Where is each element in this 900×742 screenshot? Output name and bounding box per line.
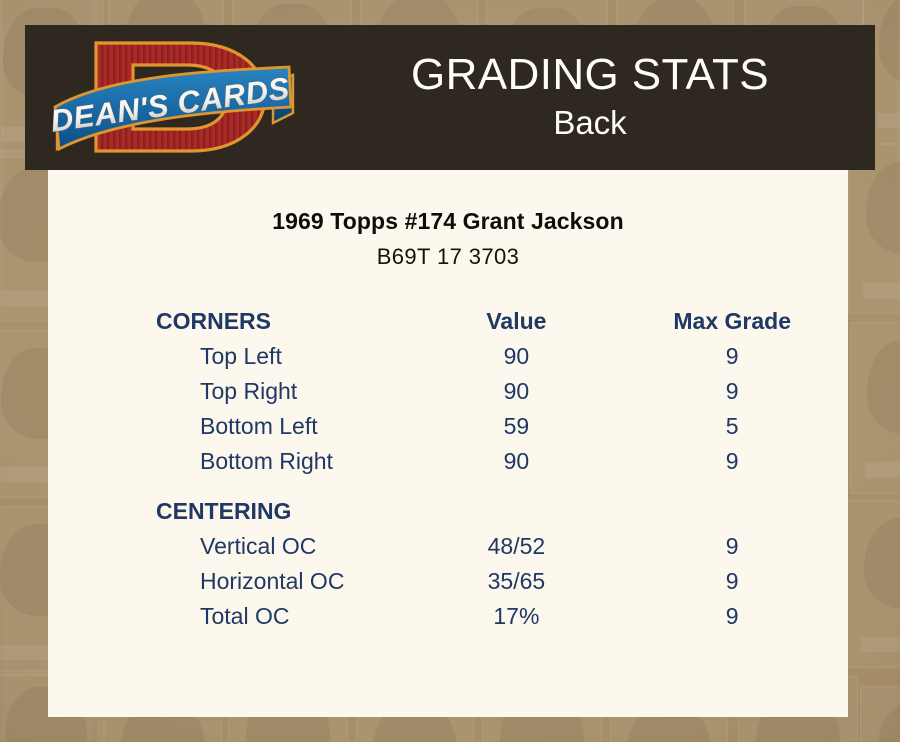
row-label: Bottom Left [48,409,416,444]
card-id: B69T 17 3703 [48,244,848,270]
table-row: Top Left 90 9 [48,339,848,374]
table-row: Vertical OC 48/52 9 [48,529,848,564]
header-bar: DEAN'S CARDS GRADING STATS Back [25,25,875,170]
row-max-grade: 9 [616,529,848,564]
row-value: 90 [416,374,616,409]
table-row: Horizontal OC 35/65 9 [48,564,848,599]
row-max-grade: 9 [616,374,848,409]
column-header-value: Value [416,304,616,339]
column-header-max-grade: Max Grade [616,304,848,339]
page-subtitle: Back [553,103,626,143]
grading-stats-table: CORNERS Value Max Grade Top Left 90 9 To… [48,304,848,634]
row-max-grade: 9 [616,339,848,374]
section-label-corners: CORNERS [48,304,416,339]
section-spacer-cell [616,494,848,529]
section-spacer-cell [416,494,616,529]
table-row: Total OC 17% 9 [48,599,848,634]
table-row: Top Right 90 9 [48,374,848,409]
content-panel: 1969 Topps #174 Grant Jackson B69T 17 37… [48,170,848,717]
table-row: Bottom Right 90 9 [48,444,848,479]
page-title: GRADING STATS [411,49,769,101]
table-section-header-corners: CORNERS Value Max Grade [48,304,848,339]
card-title: 1969 Topps #174 Grant Jackson [48,208,848,235]
row-label: Top Left [48,339,416,374]
row-max-grade: 9 [616,564,848,599]
table-section-header-centering: CENTERING [48,494,848,529]
row-value: 17% [416,599,616,634]
table-row: Bottom Left 59 5 [48,409,848,444]
row-value: 90 [416,444,616,479]
deans-cards-logo[interactable]: DEAN'S CARDS [41,27,301,167]
row-label: Horizontal OC [48,564,416,599]
row-label: Total OC [48,599,416,634]
row-value: 35/65 [416,564,616,599]
row-value: 90 [416,339,616,374]
row-max-grade: 5 [616,409,848,444]
header-titles: GRADING STATS Back [305,25,875,170]
row-value: 48/52 [416,529,616,564]
row-label: Vertical OC [48,529,416,564]
row-max-grade: 9 [616,444,848,479]
section-label-centering: CENTERING [48,494,416,529]
row-label: Top Right [48,374,416,409]
row-max-grade: 9 [616,599,848,634]
row-value: 59 [416,409,616,444]
section-spacer [48,479,848,494]
row-label: Bottom Right [48,444,416,479]
